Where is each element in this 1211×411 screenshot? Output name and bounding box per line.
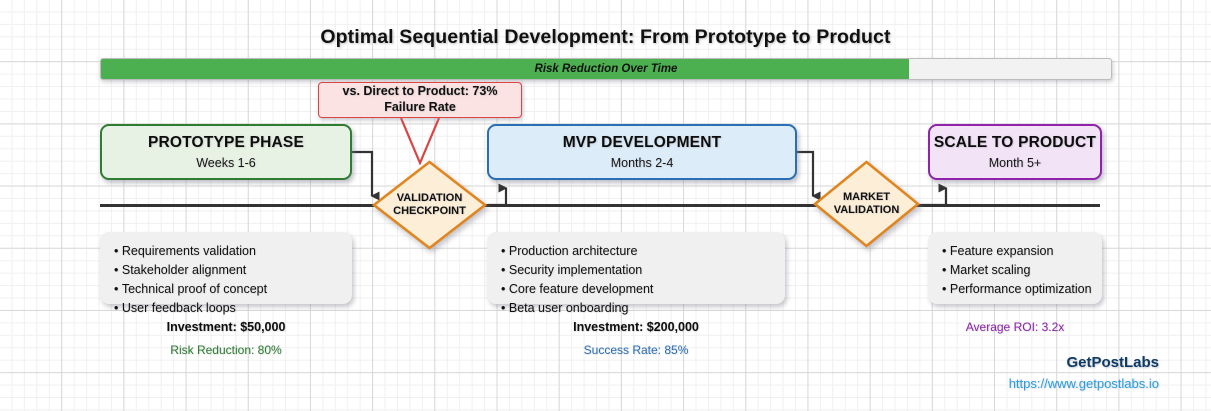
gate-market-validation[interactable]: MARKET VALIDATION — [812, 159, 921, 249]
list-item: Stakeholder alignment — [114, 261, 338, 280]
list-item: Security implementation — [501, 261, 771, 280]
list-item: Production architecture — [501, 242, 771, 261]
list-item: Requirements validation — [114, 242, 338, 261]
list-item: Technical proof of concept — [114, 280, 338, 299]
callout-line-2: Failure Rate — [384, 100, 456, 116]
phase-box-mvp[interactable]: MVP DEVELOPMENT Months 2-4 — [487, 124, 797, 180]
detail-card-mvp: Production architecture Security impleme… — [487, 232, 785, 304]
phase-subtitle-scale: Month 5+ — [989, 157, 1041, 171]
list-item: Core feature development — [501, 280, 771, 299]
phase-subtitle-prototype: Weeks 1-6 — [196, 157, 256, 171]
detail-card-scale: Feature expansion Market scaling Perform… — [928, 232, 1102, 304]
detail-list-scale: Feature expansion Market scaling Perform… — [942, 242, 1088, 299]
phase-title-prototype: PROTOTYPE PHASE — [148, 134, 304, 151]
list-item: Market scaling — [942, 261, 1088, 280]
list-item: Feature expansion — [942, 242, 1088, 261]
gate-validation-checkpoint[interactable]: VALIDATION CHECKPOINT — [371, 159, 488, 251]
list-item: Performance optimization — [942, 280, 1088, 299]
detail-list-prototype: Requirements validation Stakeholder alig… — [114, 242, 338, 319]
failure-rate-callout: vs. Direct to Product: 73% Failure Rate — [318, 82, 522, 118]
phase-box-prototype[interactable]: PROTOTYPE PHASE Weeks 1-6 — [100, 124, 352, 180]
connector-arrows — [0, 0, 1211, 411]
callout-pointer-icon — [399, 117, 441, 165]
detail-card-prototype: Requirements validation Stakeholder alig… — [100, 232, 352, 304]
detail-list-mvp: Production architecture Security impleme… — [501, 242, 771, 319]
callout-line-1: vs. Direct to Product: 73% — [343, 84, 498, 100]
phase-title-mvp: MVP DEVELOPMENT — [563, 134, 722, 151]
list-item: User feedback loops — [114, 299, 338, 318]
phase-box-scale[interactable]: SCALE TO PRODUCT Month 5+ — [928, 124, 1102, 180]
list-item: Beta user onboarding — [501, 299, 771, 318]
diagram-canvas: Optimal Sequential Development: From Pro… — [0, 0, 1211, 411]
phase-subtitle-mvp: Months 2-4 — [611, 157, 674, 171]
phase-title-scale: SCALE TO PRODUCT — [934, 134, 1096, 151]
